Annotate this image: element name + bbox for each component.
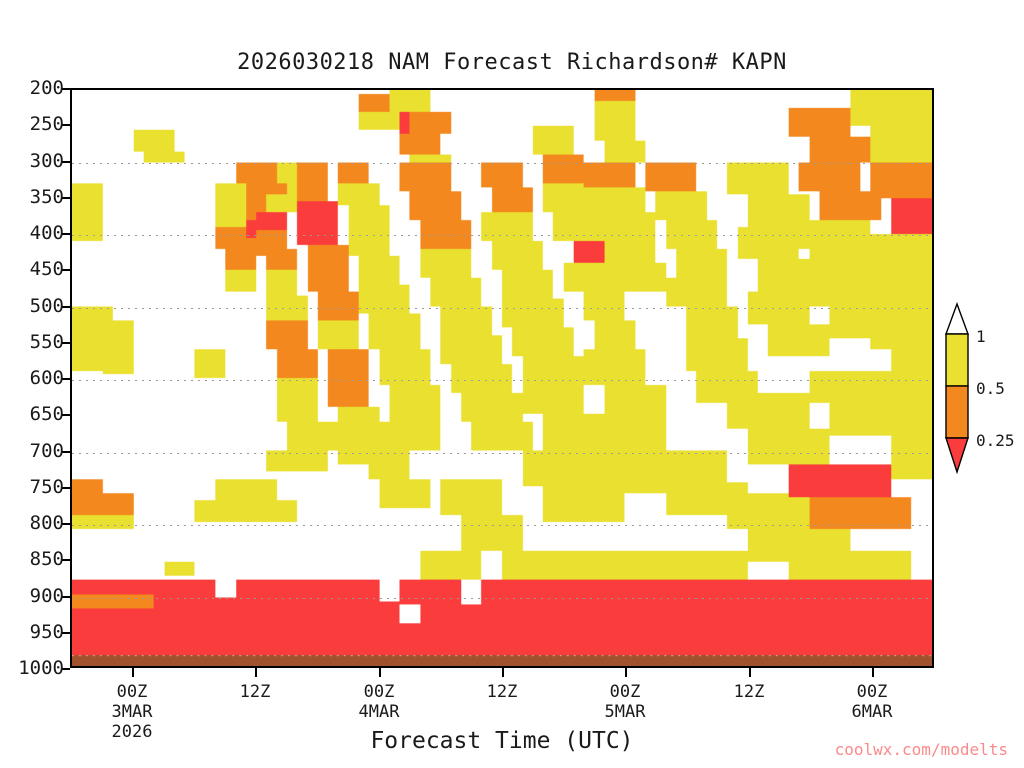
legend-colorbar bbox=[944, 302, 970, 474]
x-tick-mark-0 bbox=[132, 668, 134, 677]
x-tick-label-48: 00Z 5MAR bbox=[605, 682, 646, 722]
colorbar-band-above-1 bbox=[946, 304, 968, 334]
colorbar-band-0.5-1 bbox=[946, 334, 968, 386]
colorbar-label-1: 1 bbox=[976, 329, 986, 345]
x-tick-label-60: 12Z bbox=[734, 682, 765, 702]
x-axis-title: Forecast Time (UTC) bbox=[70, 728, 934, 754]
x-tick-label-72: 00Z 6MAR bbox=[852, 682, 893, 722]
colorbar-label-0.5: 0.5 bbox=[976, 381, 1005, 397]
x-tick-mark-48 bbox=[625, 668, 627, 677]
x-tick-mark-36 bbox=[502, 668, 504, 677]
x-tick-label-24: 00Z 4MAR bbox=[359, 682, 400, 722]
x-axis-forecast-time: 00Z 3MAR 202612Z00Z 4MAR12Z00Z 5MAR12Z00… bbox=[0, 0, 1024, 768]
x-tick-label-12: 12Z bbox=[240, 682, 271, 702]
watermark-coolwx: coolwx.com/modelts bbox=[835, 740, 1008, 759]
x-tick-mark-24 bbox=[379, 668, 381, 677]
x-tick-mark-72 bbox=[872, 668, 874, 677]
x-tick-label-36: 12Z bbox=[487, 682, 518, 702]
colorbar-svg bbox=[944, 302, 970, 474]
colorbar-band-below-0.25 bbox=[946, 438, 968, 472]
x-tick-mark-12 bbox=[255, 668, 257, 677]
colorbar-band-0.25-0.5 bbox=[946, 386, 968, 438]
colorbar-label-0.25: 0.25 bbox=[976, 433, 1015, 449]
x-tick-mark-60 bbox=[749, 668, 751, 677]
